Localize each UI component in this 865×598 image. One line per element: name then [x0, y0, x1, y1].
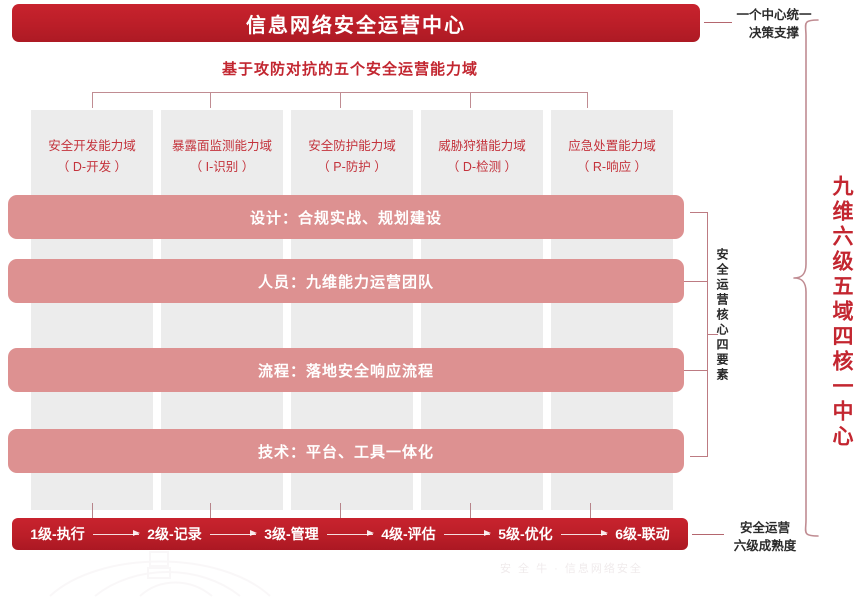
- capability-column-4-label: 威胁狩猎能力域 （ D-检测 ）: [421, 136, 543, 178]
- core-bar-design[interactable]: 设计：合规实战、规划建设: [8, 195, 684, 239]
- core-bar-design-label: 设计：合规实战、规划建设: [250, 207, 442, 228]
- capability-column-4-line2: （ D-检测 ）: [421, 157, 543, 178]
- maturity-tick-3: [340, 503, 341, 518]
- maturity-level-2[interactable]: 2级-记录: [147, 524, 201, 544]
- capability-column-1-line1: 安全开发能力域: [48, 139, 136, 153]
- page-title: 信息网络安全运营中心: [246, 9, 466, 38]
- capability-column-2-line2: （ I-识别 ）: [161, 157, 283, 178]
- header-connector-line: [704, 22, 732, 23]
- capability-column-3-line2: （ P-防护 ）: [291, 157, 413, 178]
- arrow-right-icon-4: [444, 534, 490, 535]
- core-bar-technology-label: 技术：平台、工具一体化: [258, 441, 434, 462]
- maturity-tick-4: [470, 503, 471, 518]
- outer-brace-icon: [792, 18, 820, 538]
- core-bar-process-label: 流程：落地安全响应流程: [258, 360, 434, 381]
- core-bar-people[interactable]: 人员：九维能力运营团队: [8, 259, 684, 303]
- watermark-text: 安 全 牛 · 信息网络安全: [500, 560, 643, 576]
- capability-column-4-line1: 威胁狩猎能力域: [438, 139, 526, 153]
- core-bracket-stub-3: [684, 370, 708, 371]
- maturity-tick-2: [210, 503, 211, 518]
- capability-column-5-line2: （ R-响应 ）: [551, 157, 673, 178]
- core-bracket-stub-2: [684, 281, 708, 282]
- maturity-note-line-2: 六级成熟度: [722, 537, 808, 555]
- capability-column-3-label: 安全防护能力域 （ P-防护 ）: [291, 136, 413, 178]
- maturity-level-3[interactable]: 3级-管理: [264, 524, 318, 544]
- capability-column-1-label: 安全开发能力域 （ D-开发 ）: [31, 136, 153, 178]
- bracket-tick-2: [210, 92, 211, 108]
- core-bar-process[interactable]: 流程：落地安全响应流程: [8, 348, 684, 392]
- capability-column-5-label: 应急处置能力域 （ R-响应 ）: [551, 136, 673, 178]
- maturity-bar: 1级-执行 2级-记录 3级-管理 4级-评估 5级-优化 6级-联动: [12, 518, 688, 550]
- capability-column-2-label: 暴露面监测能力域 （ I-识别 ）: [161, 136, 283, 178]
- bracket-tick-3: [340, 92, 341, 108]
- watermark-logo: [40, 548, 460, 598]
- core-four-label: 安全运营核心四要素: [712, 248, 732, 383]
- maturity-tick-5: [590, 503, 591, 518]
- subtitle: 基于攻防对抗的五个安全运营能力域: [0, 58, 700, 79]
- capability-column-2-line1: 暴露面监测能力域: [172, 139, 272, 153]
- diagram-root: 安 全 牛 · 信息网络安全 信息网络安全运营中心 一个中心统一 决策支撑 基于…: [0, 0, 865, 598]
- header-banner: 信息网络安全运营中心: [12, 4, 700, 42]
- maturity-level-6[interactable]: 6级-联动: [615, 524, 669, 544]
- arrow-right-icon-1: [93, 534, 139, 535]
- maturity-connector-line: [692, 534, 724, 535]
- maturity-level-5[interactable]: 5级-优化: [498, 524, 552, 544]
- maturity-level-4[interactable]: 4级-评估: [381, 524, 435, 544]
- arrow-right-icon-5: [561, 534, 607, 535]
- arrow-right-icon-2: [210, 534, 256, 535]
- maturity-tick-1: [92, 503, 93, 518]
- bracket-tick-4: [470, 92, 471, 108]
- outer-summary-label: 九维六级五域四核一中心: [826, 175, 856, 450]
- core-four-bracket: [690, 212, 708, 457]
- core-bar-technology[interactable]: 技术：平台、工具一体化: [8, 429, 684, 473]
- capability-column-1-line2: （ D-开发 ）: [31, 157, 153, 178]
- capability-column-5-line1: 应急处置能力域: [568, 139, 656, 153]
- arrow-right-icon-3: [327, 534, 373, 535]
- maturity-level-1[interactable]: 1级-执行: [30, 524, 84, 544]
- capability-column-3-line1: 安全防护能力域: [308, 139, 396, 153]
- core-bar-people-label: 人员：九维能力运营团队: [258, 271, 434, 292]
